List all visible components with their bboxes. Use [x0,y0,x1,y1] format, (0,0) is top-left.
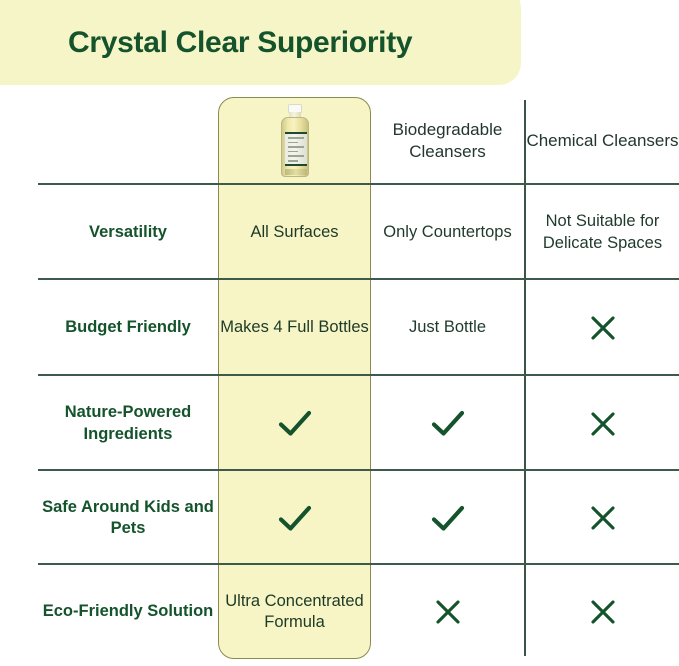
cell-chemical: Not Suitable for Delicate Spaces [526,185,679,280]
cell-value-text: Just Bottle [409,317,486,338]
comparison-table: Biodegradable CleansersChemical Cleanser… [0,0,679,666]
cell-product [218,376,371,471]
cross-icon [590,411,616,437]
cell-biodegradable [371,565,524,659]
cell-chemical [526,376,679,471]
cell-product: Makes 4 Full Bottles [218,280,371,376]
check-icon [431,410,465,437]
cross-icon [435,599,461,625]
cell-biodegradable [371,471,524,565]
feature-label: Versatility [89,222,167,243]
column-header-label: Biodegradable Cleansers [371,119,524,163]
cross-icon [590,505,616,531]
cell-biodegradable [371,376,524,471]
feature-label: Nature-Powered Ingredients [38,402,218,444]
feature-label: Eco-Friendly Solution [43,601,214,622]
bottle-label [285,132,307,166]
row-feature-cell: Eco-Friendly Solution [38,565,218,659]
row-feature-cell: Budget Friendly [38,280,218,376]
feature-label: Safe Around Kids and Pets [38,497,218,539]
cell-product: All Surfaces [218,185,371,280]
cell-value-text: Ultra Concentrated Formula [218,591,371,633]
cell-value-text: Not Suitable for Delicate Spaces [526,211,679,253]
cell-value-text: Makes 4 Full Bottles [220,317,369,338]
cell-biodegradable: Only Countertops [371,185,524,280]
row-feature-cell: Versatility [38,185,218,280]
table-grid: Biodegradable CleansersChemical Cleanser… [0,0,679,666]
bottle-body [281,117,309,177]
row-feature-cell: Safe Around Kids and Pets [38,471,218,565]
cross-icon [590,315,616,341]
header-cell-empty [38,97,218,185]
cell-chemical [526,565,679,659]
cell-value-text: Only Countertops [383,222,511,243]
cell-chemical [526,471,679,565]
cell-chemical [526,280,679,376]
cell-product: Ultra Concentrated Formula [218,565,371,659]
feature-label: Budget Friendly [65,317,191,338]
header-cell-biodegradable: Biodegradable Cleansers [371,97,524,185]
row-feature-cell: Nature-Powered Ingredients [38,376,218,471]
header-cell-chemical: Chemical Cleansers [526,97,679,185]
check-icon [278,410,312,437]
check-icon [278,505,312,532]
cell-value-text: All Surfaces [250,222,338,243]
check-icon [431,505,465,532]
product-bottle-image [278,104,312,178]
column-header-label: Chemical Cleansers [526,130,678,152]
cell-biodegradable: Just Bottle [371,280,524,376]
cross-icon [590,599,616,625]
cell-product [218,471,371,565]
bottle-base [285,169,307,175]
header-cell-product [218,97,371,185]
